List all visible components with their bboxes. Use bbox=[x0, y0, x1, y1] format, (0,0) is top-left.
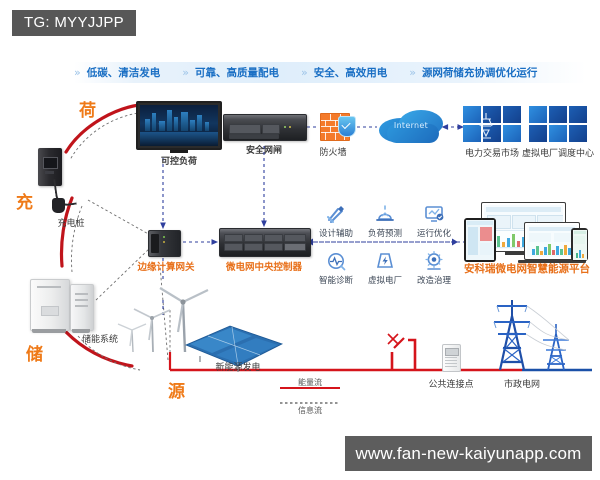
feature-axis-arrow-right bbox=[452, 239, 458, 246]
power-line-2 bbox=[526, 334, 566, 350]
tg-tag-overlay: TG: MYYJJPP bbox=[12, 10, 136, 36]
laptop-screen bbox=[527, 225, 577, 257]
central-controller-device bbox=[219, 228, 311, 257]
banner-item-coordination: » 源网荷储充协调优化运行 bbox=[409, 65, 537, 80]
banner-label-consumption: 安全、高效用电 bbox=[314, 65, 388, 80]
feature-label-smart-diagnosis: 智能诊断 bbox=[313, 274, 359, 286]
edge-gateway-device bbox=[148, 230, 181, 257]
load-forecast-icon bbox=[374, 203, 396, 225]
label-edge-gateway: 边缘计算网关 bbox=[137, 259, 195, 273]
platform-phone bbox=[571, 228, 588, 261]
label-firewall: 防火墙 bbox=[311, 145, 355, 158]
platform-tablet bbox=[464, 218, 496, 262]
chevron-right-icon: » bbox=[182, 66, 189, 79]
monitor-stand bbox=[170, 150, 188, 153]
virtual-power-plant-icon bbox=[374, 250, 396, 272]
label-controllable-load: 可控负荷 bbox=[137, 154, 221, 167]
label-charging-pile: 充电桩 bbox=[42, 216, 100, 229]
legend-label-info-flow: 信息流 bbox=[280, 405, 340, 416]
banner-item-distribution: » 可靠、高质量配电 bbox=[182, 65, 279, 80]
feature-operation-optimize[interactable]: 运行优化 bbox=[411, 203, 457, 239]
feature-retrofit-governance[interactable]: 改造治理 bbox=[411, 250, 457, 286]
feature-virtual-power-plant[interactable]: 虚拟电厂 bbox=[362, 250, 408, 286]
pillar-label-storage: 储 bbox=[26, 340, 43, 365]
vpp-center-videowall bbox=[529, 106, 587, 142]
controllable-load-display bbox=[136, 101, 222, 150]
phone-screen bbox=[573, 230, 587, 260]
power-line-1 bbox=[530, 322, 569, 340]
label-city-grid: 市政电网 bbox=[490, 377, 554, 390]
label-new-energy: 新能源发电 bbox=[207, 360, 269, 373]
feature-design-assist[interactable]: 设计辅助 bbox=[313, 203, 359, 239]
energy-bus-riser bbox=[408, 340, 415, 370]
wind-turbine-small bbox=[134, 309, 170, 352]
charging-pile-screen bbox=[43, 157, 58, 169]
banner-label-distribution: 可靠、高质量配电 bbox=[195, 65, 279, 80]
feature-label-virtual-power-plant: 虚拟电厂 bbox=[362, 274, 408, 286]
feature-label-operation-optimize: 运行优化 bbox=[411, 227, 457, 239]
banner-item-generation: » 低碳、清洁发电 bbox=[74, 65, 160, 80]
charging-pile-panel bbox=[45, 171, 54, 174]
link-storage-edge bbox=[96, 248, 150, 300]
tablet-screen bbox=[466, 220, 494, 260]
diagram-canvas: » 低碳、清洁发电 » 可靠、高质量配电 » 安全、高效用电 » 源网荷储充协调… bbox=[0, 0, 600, 480]
banner-item-consumption: » 安全、高效用电 bbox=[301, 65, 387, 80]
label-internet: Internet bbox=[379, 121, 443, 130]
charging-gun-icon bbox=[52, 198, 65, 213]
water-reflection bbox=[140, 132, 218, 146]
design-assist-icon bbox=[325, 203, 347, 225]
banner-label-coordination: 源网荷储充协调优化运行 bbox=[422, 65, 538, 80]
breaker-switch bbox=[394, 338, 404, 348]
security-gateway-device bbox=[223, 114, 307, 141]
chevron-right-icon: » bbox=[74, 66, 81, 79]
top-banner: » 低碳、清洁发电 » 可靠、高质量配电 » 安全、高效用电 » 源网荷储充协调… bbox=[74, 62, 586, 83]
feature-label-load-forecast: 负荷预测 bbox=[362, 227, 408, 239]
feature-smart-diagnosis[interactable]: 智能诊断 bbox=[313, 250, 359, 286]
label-central-controller: 微电网中央控制器 bbox=[209, 259, 319, 273]
label-pcc: 公共连接点 bbox=[416, 377, 486, 390]
label-security-gateway: 安全网闸 bbox=[225, 143, 303, 156]
pillar-label-charge: 充 bbox=[16, 188, 33, 213]
feature-load-forecast[interactable]: 负荷预测 bbox=[362, 203, 408, 239]
storage-cabinet-aux bbox=[70, 284, 94, 331]
transmission-tower-small bbox=[543, 324, 569, 370]
meter-icon bbox=[442, 344, 461, 372]
smart-diagnosis-icon bbox=[325, 250, 347, 272]
city-skyline-image bbox=[140, 105, 218, 146]
feature-label-design-assist: 设计辅助 bbox=[313, 227, 359, 239]
retrofit-governance-icon bbox=[423, 250, 445, 272]
operation-optimize-icon bbox=[423, 203, 445, 225]
power-market-videowall bbox=[463, 106, 521, 142]
storage-cabinet-main-base bbox=[32, 329, 66, 333]
label-vpp-center: 虚拟电厂调度中心 bbox=[521, 146, 595, 159]
label-platform: 安科瑞微电网智慧能源平台 bbox=[462, 261, 592, 276]
storage-cabinet-main bbox=[30, 279, 70, 331]
label-storage-system: 储能系统 bbox=[68, 332, 132, 345]
internet-cloud-icon: Internet bbox=[379, 110, 443, 143]
pillar-label-source: 源 bbox=[168, 377, 185, 402]
watermark-overlay: www.fan-new-kaiyunapp.com bbox=[345, 436, 592, 471]
pillar-label-load: 荷 bbox=[79, 96, 96, 121]
label-power-market: 电力交易市场 bbox=[461, 146, 523, 159]
banner-label-generation: 低碳、清洁发电 bbox=[87, 65, 161, 80]
transmission-tower-large bbox=[494, 300, 530, 370]
chevron-right-icon: » bbox=[409, 66, 416, 79]
feature-label-retrofit-governance: 改造治理 bbox=[411, 274, 457, 286]
breaker-cross-icon bbox=[388, 334, 398, 344]
legend-label-energy-flow: 能量流 bbox=[280, 377, 340, 388]
chevron-right-icon: » bbox=[301, 66, 308, 79]
